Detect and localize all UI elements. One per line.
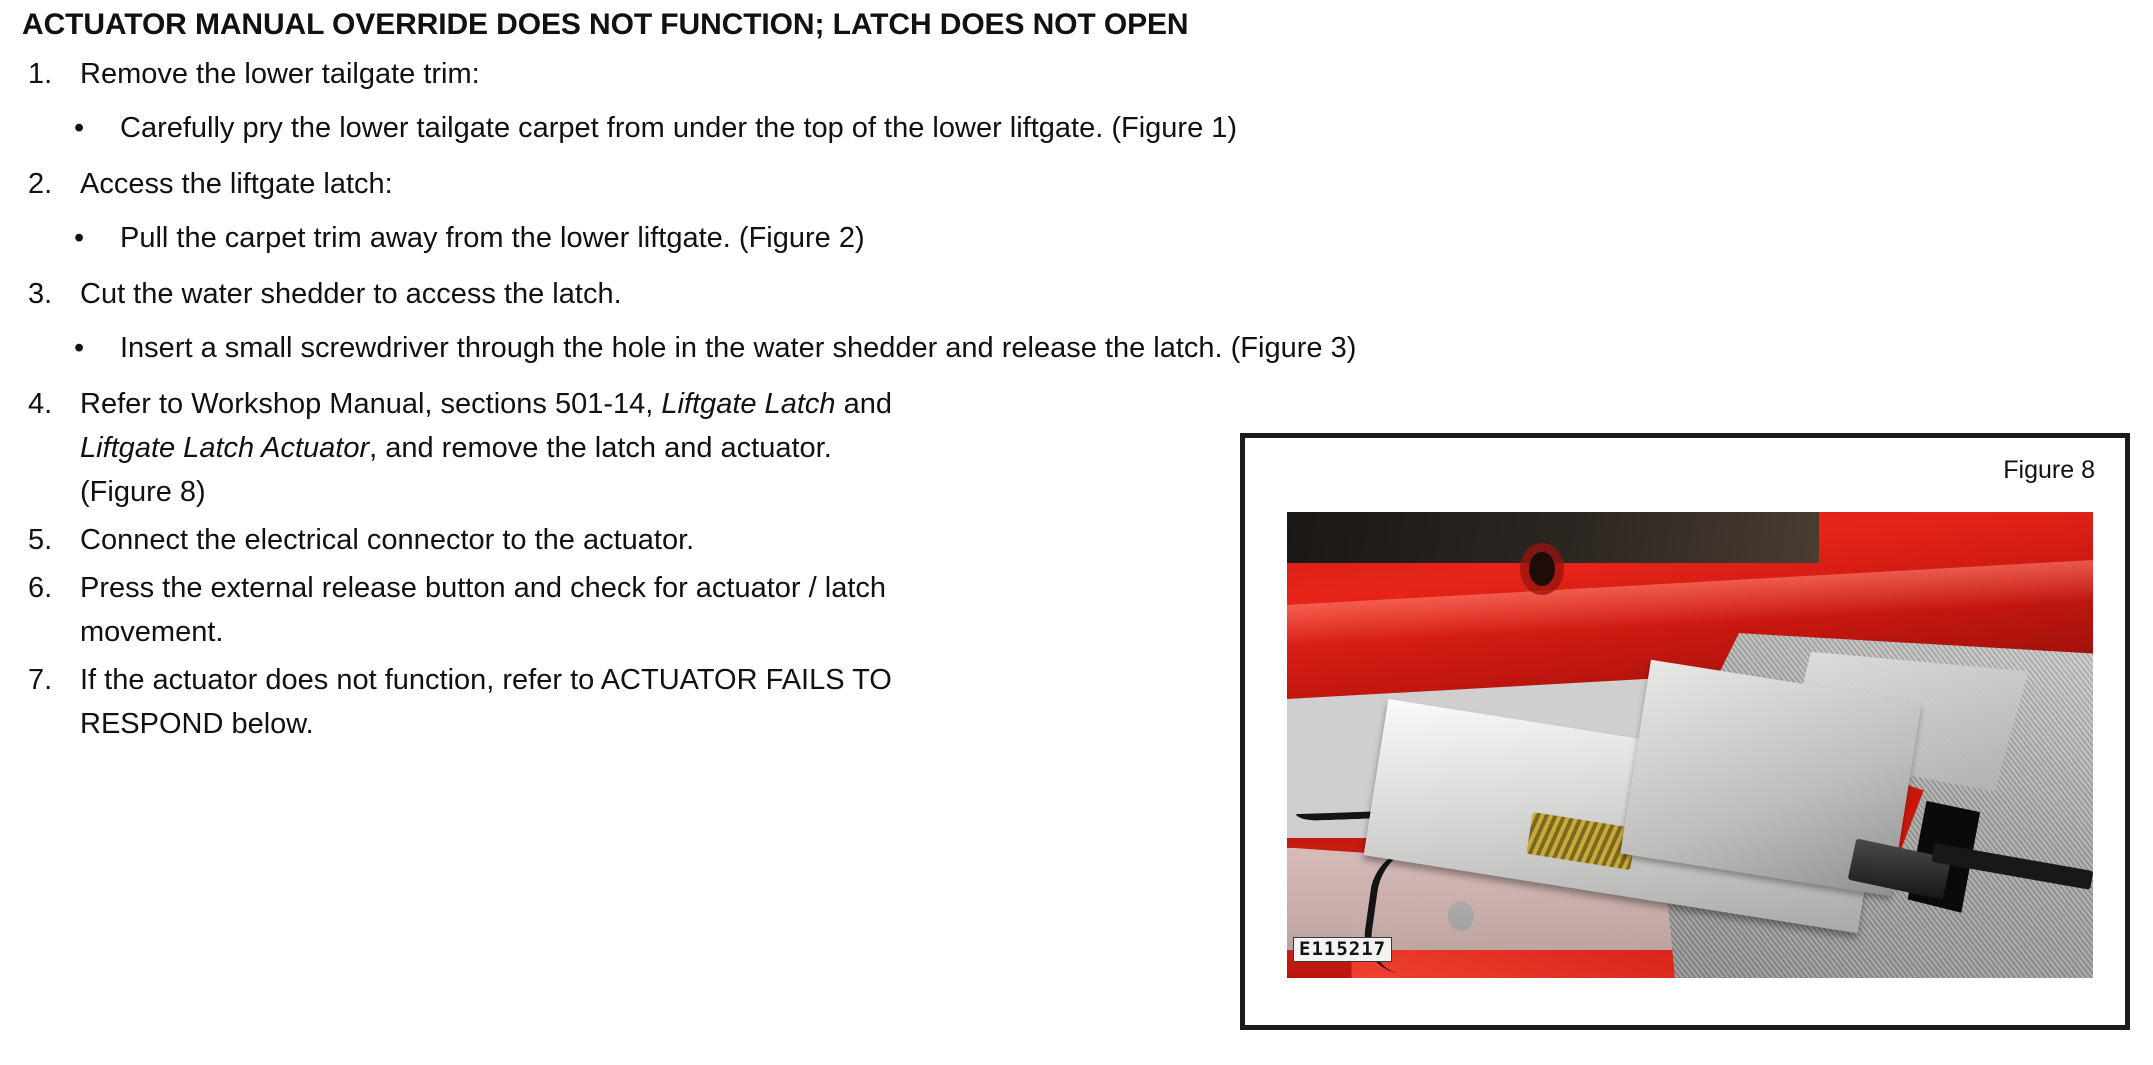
list-item: • Carefully pry the lower tailgate carpe… <box>22 106 1252 150</box>
step-text: Press the external release button and ch… <box>80 566 910 654</box>
step-number: 1. <box>22 52 80 96</box>
bullet-text: Pull the carpet trim away from the lower… <box>120 216 1252 260</box>
list-item: • Pull the carpet trim away from the low… <box>22 216 1252 260</box>
bullet-icon: • <box>22 106 120 150</box>
step-text: Connect the electrical connector to the … <box>80 518 910 562</box>
figure-caption: Figure 8 <box>2003 456 2095 485</box>
photo-shadow-band <box>1287 512 1819 563</box>
step-number: 7. <box>22 658 80 702</box>
list-item: 5. Connect the electrical connector to t… <box>22 518 1252 562</box>
photo-reference-code: E115217 <box>1293 937 1392 962</box>
bullet-icon: • <box>22 216 120 260</box>
step-text: Refer to Workshop Manual, sections 501-1… <box>80 382 910 514</box>
step-number: 6. <box>22 566 80 610</box>
bullet-text: Insert a small screwdriver through the h… <box>120 326 1356 370</box>
step-text: Remove the lower tailgate trim: <box>80 52 1252 96</box>
step-number: 3. <box>22 272 80 316</box>
step-number: 2. <box>22 162 80 206</box>
step-number: 4. <box>22 382 80 426</box>
figure-photo-liftgate-latch: E115217 <box>1287 512 2093 978</box>
step-number: 5. <box>22 518 80 562</box>
figure-panel: Figure 8 E115217 <box>1240 433 2130 1030</box>
step-text: Cut the water shedder to access the latc… <box>80 272 1252 316</box>
list-item: 7. If the actuator does not function, re… <box>22 658 1252 746</box>
step-text: Access the liftgate latch: <box>80 162 1252 206</box>
step-text: If the actuator does not function, refer… <box>80 658 910 746</box>
list-item: 6. Press the external release button and… <box>22 566 1252 654</box>
bullet-text: Carefully pry the lower tailgate carpet … <box>120 106 1252 150</box>
photo-panel-hole-upper <box>1529 552 1555 586</box>
bullet-icon: • <box>22 326 120 370</box>
procedure-list: 1. Remove the lower tailgate trim: • Car… <box>22 52 1252 750</box>
page-title: ACTUATOR MANUAL OVERRIDE DOES NOT FUNCTI… <box>22 8 1188 42</box>
list-item: 4. Refer to Workshop Manual, sections 50… <box>22 382 1252 514</box>
document-page: ACTUATOR MANUAL OVERRIDE DOES NOT FUNCTI… <box>0 0 2153 1065</box>
list-item: 2. Access the liftgate latch: <box>22 162 1252 206</box>
list-item: • Insert a small screwdriver through the… <box>22 326 1252 370</box>
list-item: 3. Cut the water shedder to access the l… <box>22 272 1252 316</box>
list-item: 1. Remove the lower tailgate trim: <box>22 52 1252 96</box>
